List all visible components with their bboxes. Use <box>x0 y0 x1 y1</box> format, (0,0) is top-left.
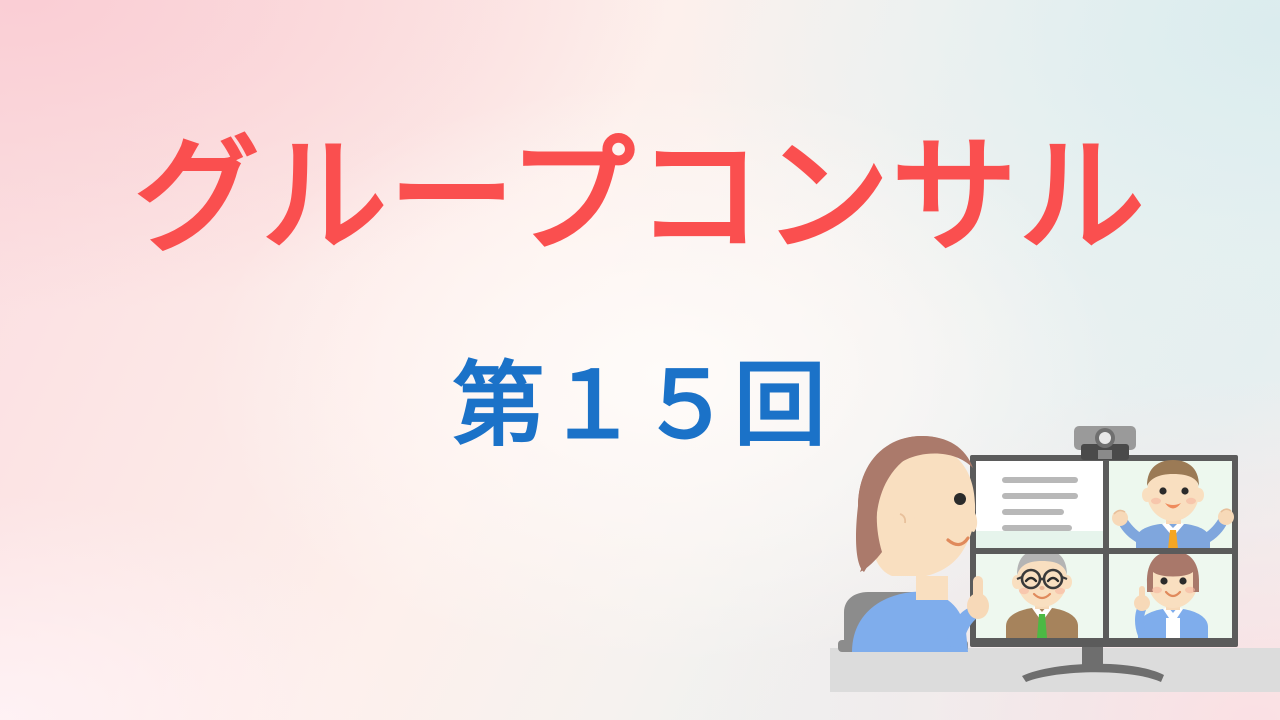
foreground-woman <box>852 436 989 652</box>
page-title: グループコンサル <box>0 134 1280 260</box>
participant-man-suit <box>1108 460 1234 549</box>
webcam-icon <box>1074 426 1136 460</box>
slide-canvas: グループコンサル 第１５回 <box>0 0 1280 720</box>
online-meeting-illustration <box>830 400 1280 720</box>
participant-woman <box>1108 551 1232 638</box>
document-panel <box>976 461 1104 549</box>
monitor-icon <box>970 455 1238 682</box>
participant-senior-man <box>976 549 1104 638</box>
